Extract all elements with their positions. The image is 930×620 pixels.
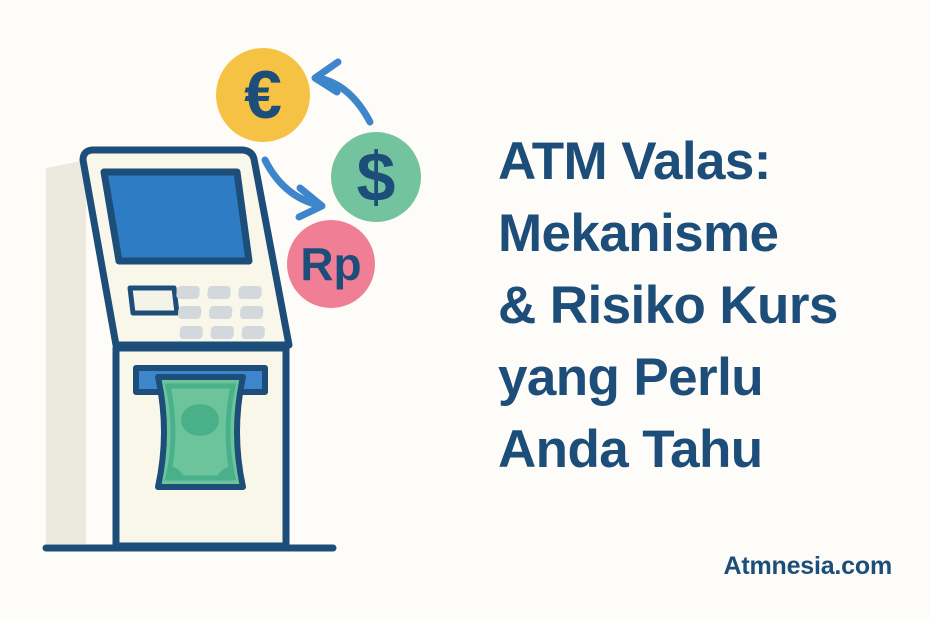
atm-currency-exchange-illustration: € $ Rp xyxy=(0,0,470,620)
page-title: ATM Valas: Mekanisme & Risiko Kurs yang … xyxy=(498,126,928,486)
atm-screen xyxy=(104,172,249,261)
exchange-arrow-down-right xyxy=(265,160,322,217)
euro-coin-symbol: € xyxy=(244,57,282,133)
atm-card-slot xyxy=(130,288,177,313)
atm-keypad xyxy=(176,286,265,339)
brand-watermark: Atmnesia.com xyxy=(498,552,892,581)
banknote-center-seal xyxy=(181,404,219,436)
dollar-coin-symbol: $ xyxy=(357,138,396,216)
atm-side-panel xyxy=(46,160,86,544)
text-column: ATM Valas: Mekanisme & Risiko Kurs yang … xyxy=(498,0,930,620)
poster-canvas: € $ Rp ATM Valas: Mekanisme & Risiko Kur… xyxy=(0,0,930,620)
rupiah-coin-symbol: Rp xyxy=(300,238,361,290)
exchange-arrow-up-left xyxy=(315,62,370,122)
